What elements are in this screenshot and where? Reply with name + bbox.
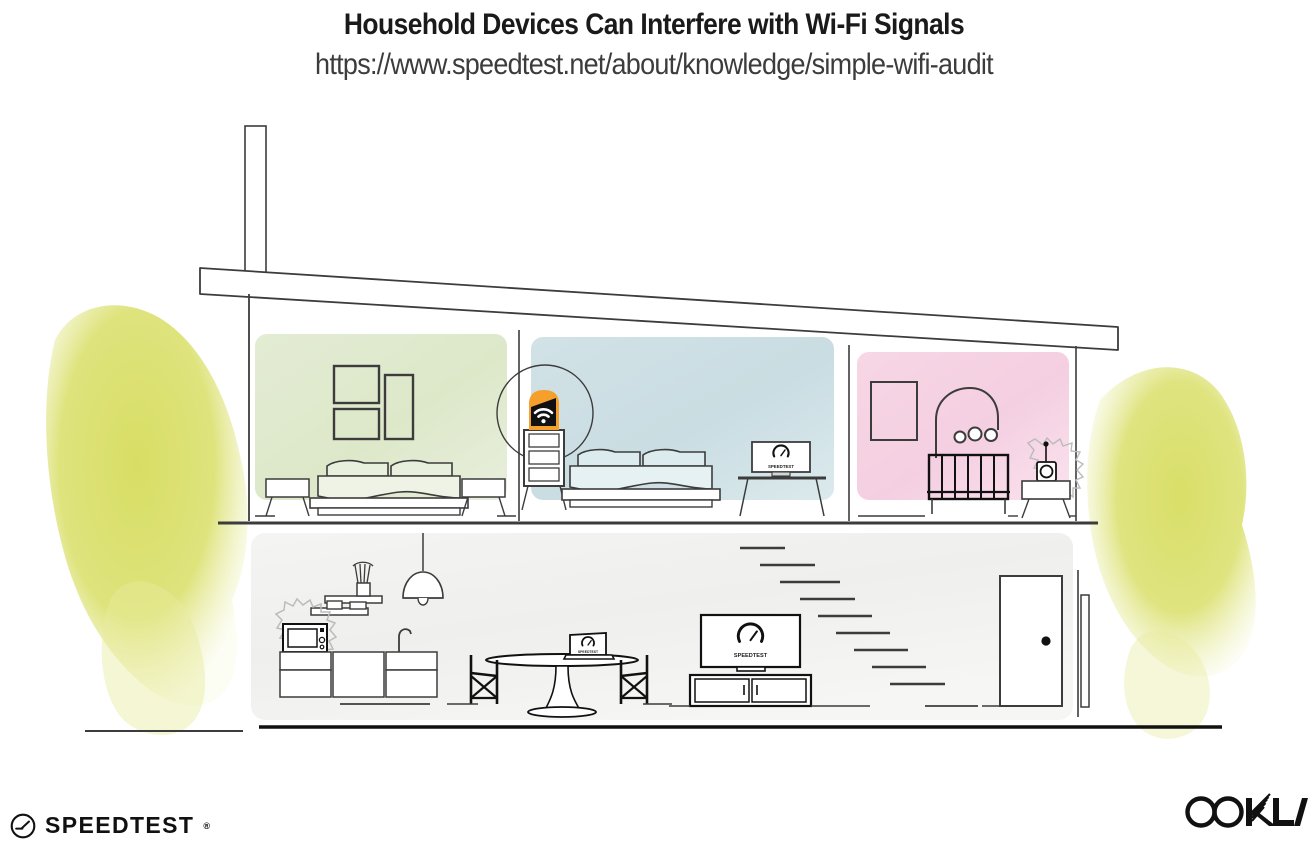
- entry-door[interactable]: [1000, 576, 1062, 706]
- room-blue-bedroom[interactable]: SPEEDTEST: [497, 337, 834, 516]
- nightstand-left: [266, 479, 309, 516]
- page-title: Household Devices Can Interfere with Wi-…: [78, 0, 1229, 42]
- ookla-logo[interactable]: [1180, 790, 1308, 837]
- door-knob-icon[interactable]: [1041, 636, 1050, 645]
- speedtest-logo[interactable]: SPEEDTEST ®: [10, 812, 210, 839]
- nightstand-right: [462, 479, 505, 516]
- header: Household Devices Can Interfere with Wi-…: [0, 0, 1308, 82]
- source-url: https://www.speedtest.net/about/knowledg…: [65, 42, 1242, 82]
- wifi-router[interactable]: [529, 390, 559, 430]
- kitchen-cabinets: [280, 652, 437, 697]
- media-console: [690, 675, 811, 706]
- laptop-screen-brand: SPEEDTEST: [578, 650, 599, 654]
- television[interactable]: SPEEDTEST: [701, 615, 800, 671]
- room-green-bedroom[interactable]: [255, 334, 516, 516]
- desktop-monitor[interactable]: SPEEDTEST: [752, 442, 810, 476]
- room-grey-living[interactable]: SPEEDTEST: [251, 533, 1089, 720]
- foliage-right: [1087, 367, 1255, 739]
- monitor-screen-brand: SPEEDTEST: [768, 464, 794, 469]
- speedtest-wordmark: SPEEDTEST: [45, 812, 194, 839]
- tv-screen-brand: SPEEDTEST: [734, 653, 768, 659]
- foliage-left: [46, 305, 247, 735]
- infographic-poster: Household Devices Can Interfere with Wi-…: [0, 0, 1308, 861]
- ookla-wordmark-icon: [1180, 790, 1308, 832]
- speedtest-gauge-icon: [10, 813, 36, 839]
- room-pink-nursery[interactable]: [857, 352, 1083, 518]
- laptop[interactable]: SPEEDTEST: [564, 633, 614, 659]
- house-cutaway-illustration: SPEEDTEST: [0, 0, 1308, 861]
- side-table-nursery: [1022, 481, 1070, 518]
- right-column: [1081, 595, 1089, 707]
- chimney: [245, 126, 266, 278]
- speedtest-trademark: ®: [203, 821, 210, 831]
